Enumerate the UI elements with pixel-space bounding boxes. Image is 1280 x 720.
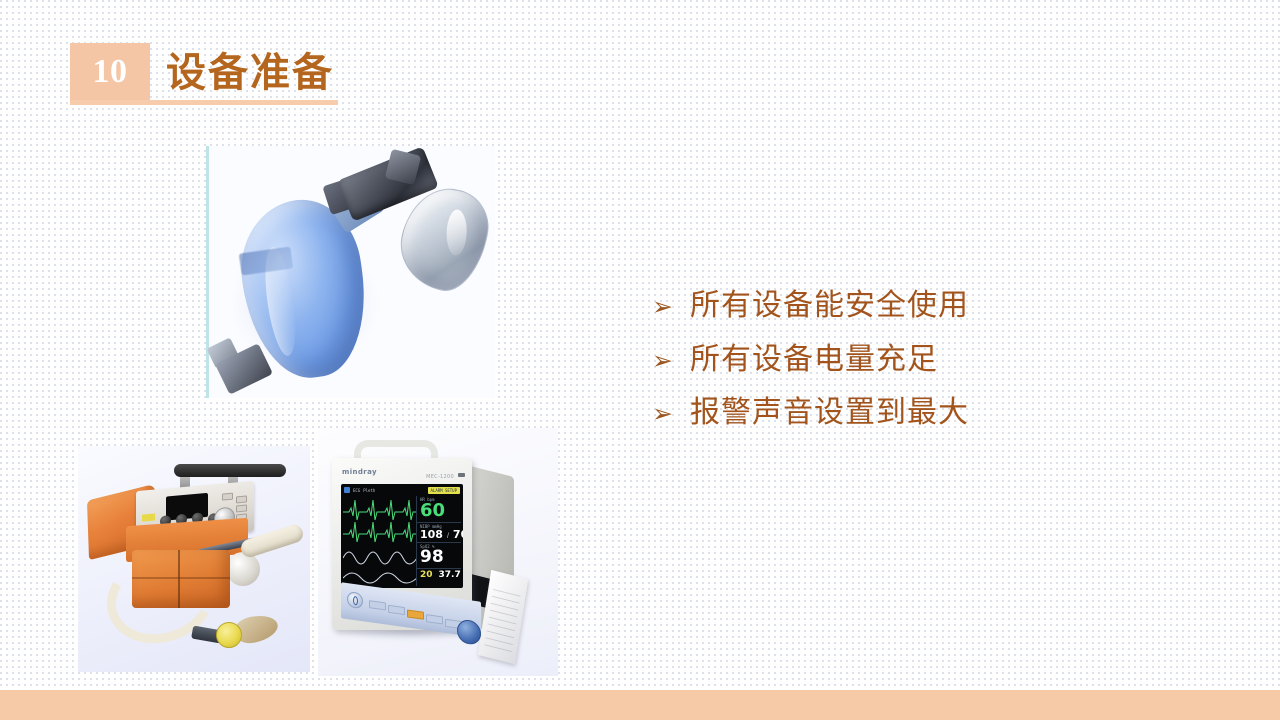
slide-number-badge: 10 (70, 43, 150, 102)
slide-number-label: 10 (93, 55, 128, 91)
monitor-front-bezel: mindray MEC-1200 ECG Pleth ALARM SETUP (332, 458, 472, 630)
image-patient-monitor: mindray MEC-1200 ECG Pleth ALARM SETUP (318, 428, 558, 676)
ventilator-indicator-strip (142, 513, 155, 521)
monitor-key-alarm (407, 609, 424, 619)
monitor-key-3 (426, 614, 443, 624)
ventilator-button-1 (236, 495, 247, 503)
ventilator-mask-yellow-cap (216, 622, 242, 648)
bullet-arrow-icon: ➢ (652, 294, 690, 319)
title-underline-rule (70, 100, 338, 105)
ventilator-button-2 (236, 504, 247, 512)
monitor-numeric-panel: HR bpm 60 NIBP mmHg 108 / 70 SpO2 % 98 (416, 496, 461, 586)
monitor-key-2 (388, 605, 405, 615)
list-item: ➢ 所有设备能安全使用 (652, 290, 1072, 322)
list-item: ➢ 报警声音设置到最大 (652, 397, 1072, 429)
image-edge-accent (206, 146, 209, 398)
monitor-alarm-banner: ALARM SETUP (428, 487, 461, 494)
slide-root: 10 设备准备 (0, 0, 1280, 720)
monitor-rotary-knob (457, 618, 481, 645)
bullet-list: ➢ 所有设备能安全使用 ➢ 所有设备电量充足 ➢ 报警声音设置到最大 (652, 290, 1072, 429)
bullet-label: 报警声音设置到最大 (690, 397, 969, 429)
monitor-nibp-box: NIBP mmHg 108 / 70 (417, 523, 461, 543)
ventilator-button-4 (222, 493, 233, 501)
bullet-label: 所有设备能安全使用 (690, 290, 969, 322)
monitor-nibp-separator: / (447, 533, 449, 540)
monitor-wave-label-ecg: ECG (353, 488, 360, 493)
monitor-resp-value: 20 (420, 570, 433, 580)
monitor-resp-temp-row: 20 37.7 (417, 569, 461, 581)
slide-bottom-band (0, 690, 1280, 720)
monitor-waveform-svg (343, 496, 417, 586)
monitor-screen-topbar: ECG Pleth ALARM SETUP (344, 486, 460, 494)
monitor-spo2-value: 98 (420, 549, 458, 566)
ventilator-carry-handle (174, 464, 286, 477)
monitor-display-screen: ECG Pleth ALARM SETUP HR bpm 60 (341, 484, 463, 588)
monitor-spo2-box: SpO2 % 98 (417, 543, 461, 569)
power-icon (347, 591, 363, 609)
monitor-waveform-area (343, 496, 417, 586)
monitor-nibp-systolic: 108 (420, 529, 443, 540)
bullet-arrow-icon: ➢ (652, 348, 690, 373)
image-bag-valve-mask (206, 146, 495, 398)
bullet-label: 所有设备电量充足 (690, 344, 938, 376)
list-item: ➢ 所有设备电量充足 (652, 344, 1072, 376)
ventilator-oxygen-bottle (226, 552, 260, 586)
image-transport-ventilator (78, 446, 310, 672)
monitor-printout-trace (484, 589, 521, 655)
monitor-temp-value: 37.7 (439, 570, 461, 580)
patient-icon (344, 487, 350, 493)
monitor-wave-label-pleth: Pleth (363, 488, 375, 493)
monitor-model-label: MEC-1200 (426, 474, 454, 480)
monitor-hr-value: 60 (420, 502, 458, 520)
monitor-control-bar (341, 582, 481, 638)
monitor-hr-box: HR bpm 60 (417, 496, 461, 523)
page-title: 设备准备 (150, 43, 334, 103)
page-title-label: 设备准备 (166, 53, 334, 93)
monitor-key-1 (369, 600, 386, 610)
monitor-status-led (458, 473, 465, 477)
slide-title-block: 10 设备准备 (70, 43, 334, 103)
monitor-brand-label: mindray (342, 468, 377, 476)
monitor-nibp-diastolic: 70 (453, 529, 463, 540)
bullet-arrow-icon: ➢ (652, 401, 690, 426)
monitor-nibp-row: 108 / 70 (420, 529, 458, 540)
